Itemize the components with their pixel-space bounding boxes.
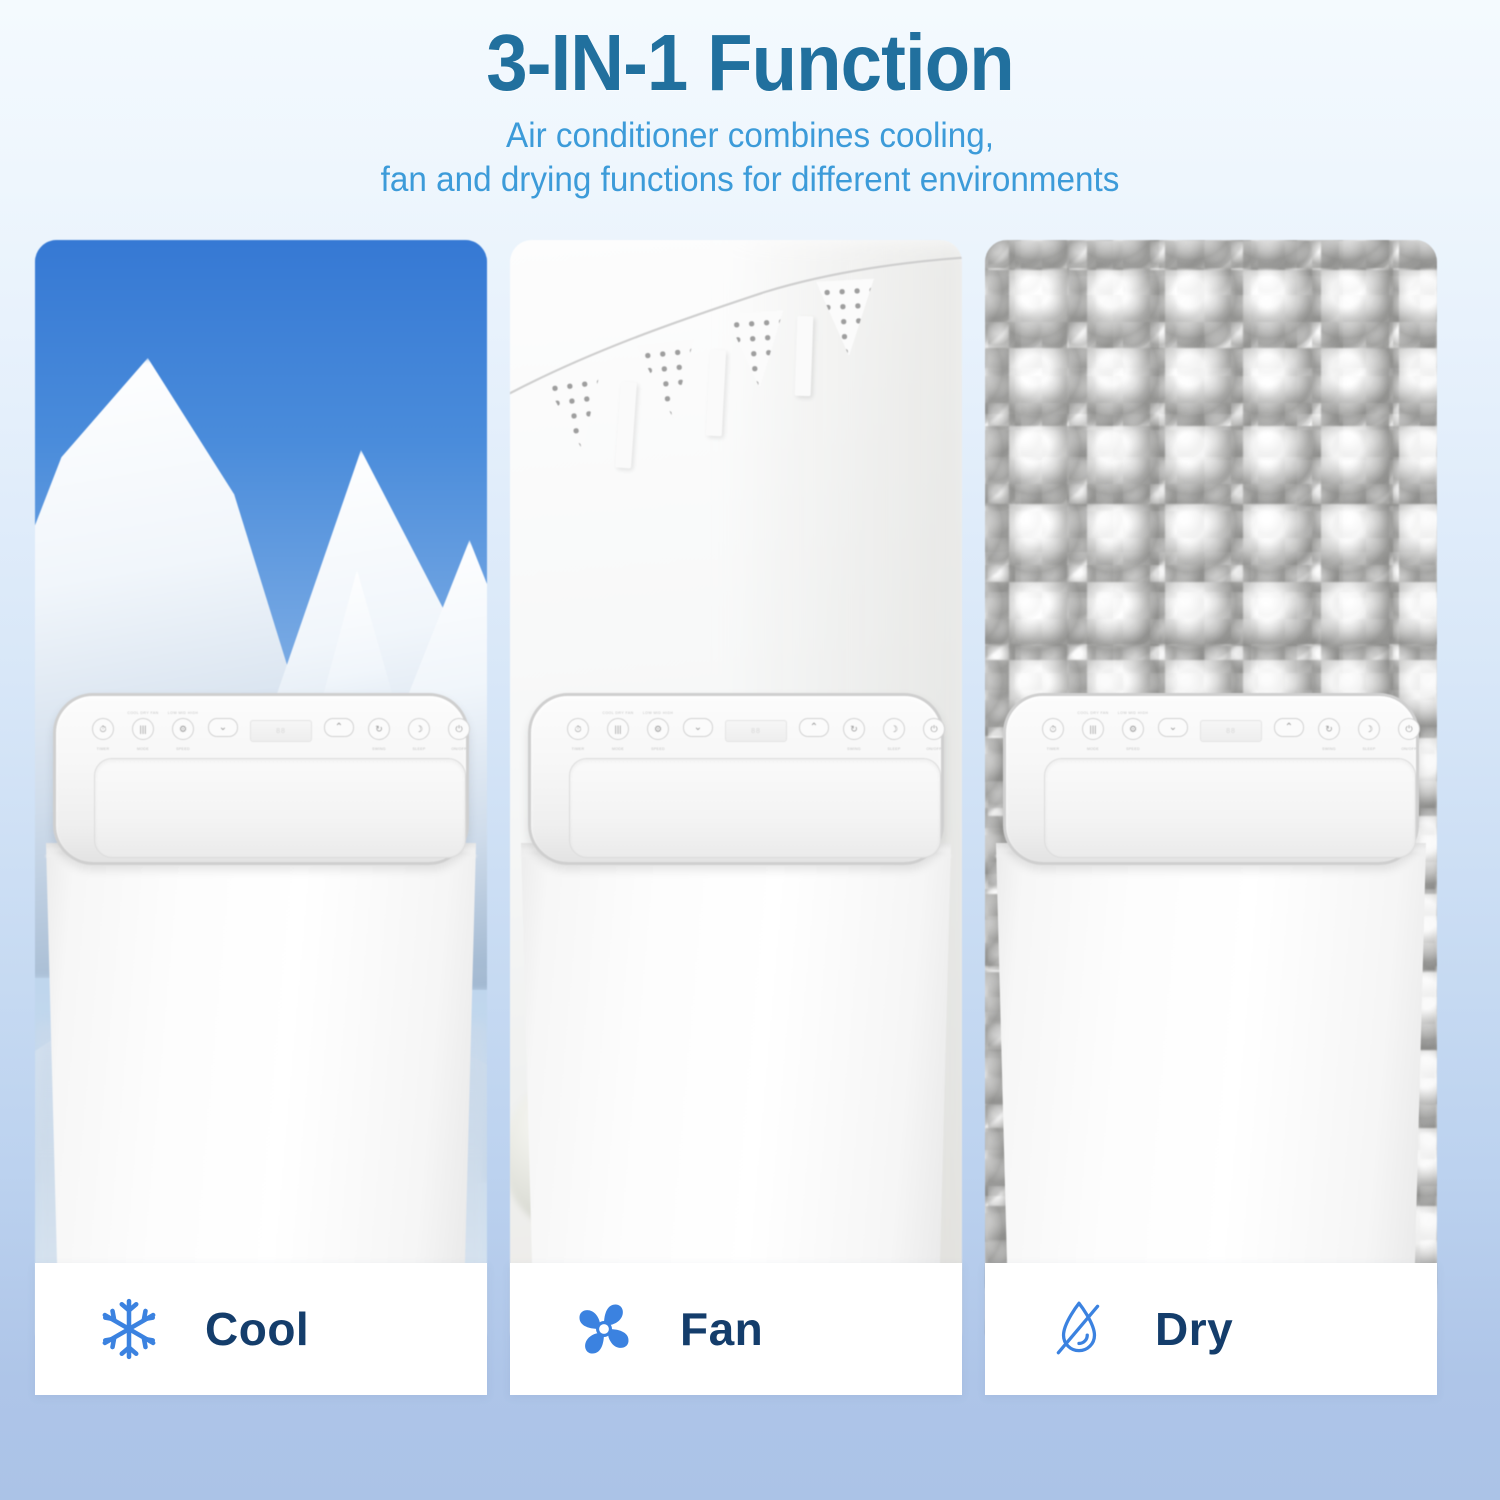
chevron-up-icon: ⌃ bbox=[799, 718, 829, 737]
page-title: 3-IN-1 Function bbox=[53, 22, 1448, 104]
mode-button[interactable]: COOL DRY FAN ||| MODE bbox=[1080, 711, 1106, 751]
bunting-streamer bbox=[795, 316, 814, 397]
bunting-decoration bbox=[510, 254, 962, 474]
ac-louver-panel bbox=[1044, 758, 1416, 858]
speed-button[interactable]: LOW MID HIGH ⚙ SPEED bbox=[1120, 711, 1146, 751]
speed-sub-label: SPEED bbox=[176, 747, 190, 751]
chevron-up-icon: ⌃ bbox=[324, 718, 354, 737]
power-icon: ⏻ bbox=[448, 718, 470, 740]
mode-card-dry: Dry bbox=[985, 1263, 1437, 1395]
control-panel: ⏱ TIMER COOL DRY FAN ||| MODE LOW MID HI… bbox=[1040, 708, 1422, 754]
speed-icon: ⚙ bbox=[172, 718, 194, 740]
timer-icon: ⏱ bbox=[567, 718, 589, 740]
air-conditioner-unit: ⏱ TIMER COOL DRY FAN ||| MODE LOW MID HI… bbox=[987, 693, 1435, 1353]
sleep-sub-label: SLEEP bbox=[1362, 747, 1375, 751]
moon-icon: ☽ bbox=[408, 718, 430, 740]
speed-cap-label: LOW MID HIGH bbox=[1118, 711, 1149, 715]
swing-icon: ↻ bbox=[843, 718, 865, 740]
mode-sub-label: MODE bbox=[612, 747, 624, 751]
power-icon: ⏻ bbox=[1398, 718, 1420, 740]
moon-icon: ☽ bbox=[883, 718, 905, 740]
scene-image-fan: ⏱ TIMER COOL DRY FAN ||| MODE LOW MID HI… bbox=[510, 240, 962, 1353]
feature-panel-fan: ⏱ TIMER COOL DRY FAN ||| MODE LOW MID HI… bbox=[510, 240, 962, 1395]
control-panel: ⏱ TIMER COOL DRY FAN ||| MODE LOW MID HI… bbox=[565, 708, 947, 754]
mode-label-fan: Fan bbox=[680, 1302, 763, 1356]
speed-button[interactable]: LOW MID HIGH ⚙ SPEED bbox=[645, 711, 671, 751]
swing-sub-label: SWING bbox=[372, 747, 386, 751]
feature-panels: ⏱ TIMER COOL DRY FAN ||| MODE LOW MID HI… bbox=[35, 240, 1465, 1395]
fan-blade-icon bbox=[568, 1293, 640, 1365]
ac-louver-panel bbox=[569, 758, 941, 858]
snowflake-icon bbox=[93, 1293, 165, 1365]
mode-label-cool: Cool bbox=[205, 1302, 309, 1356]
mode-card-cool: Cool bbox=[35, 1263, 487, 1395]
no-water-drop-icon bbox=[1043, 1293, 1115, 1365]
timer-button[interactable]: ⏱ TIMER bbox=[90, 711, 116, 751]
power-button[interactable]: ⏻ ON/OFF bbox=[1396, 711, 1422, 751]
mode-button[interactable]: COOL DRY FAN ||| MODE bbox=[605, 711, 631, 751]
temperature-down-button[interactable]: ⌄ bbox=[685, 711, 711, 751]
mode-cap-label: COOL DRY FAN bbox=[1077, 711, 1108, 715]
power-button[interactable]: ⏻ ON/OFF bbox=[921, 711, 947, 751]
scene-image-cool: ⏱ TIMER COOL DRY FAN ||| MODE LOW MID HI… bbox=[35, 240, 487, 1353]
ac-top-cap: ⏱ TIMER COOL DRY FAN ||| MODE LOW MID HI… bbox=[53, 693, 469, 865]
power-button[interactable]: ⏻ ON/OFF bbox=[446, 711, 472, 751]
led-display: 88 bbox=[1200, 720, 1262, 742]
chevron-down-icon: ⌄ bbox=[1158, 718, 1188, 737]
ac-top-cap: ⏱ TIMER COOL DRY FAN ||| MODE LOW MID HI… bbox=[528, 693, 944, 865]
page-subtitle: Air conditioner combines cooling, fan an… bbox=[38, 114, 1463, 202]
temperature-down-button[interactable]: ⌄ bbox=[1160, 711, 1186, 751]
temperature-up-button[interactable]: ⌃ bbox=[326, 711, 352, 751]
sleep-sub-label: SLEEP bbox=[887, 747, 900, 751]
speed-sub-label: SPEED bbox=[1126, 747, 1140, 751]
power-icon: ⏻ bbox=[923, 718, 945, 740]
mode-sub-label: MODE bbox=[137, 747, 149, 751]
mode-sub-label: MODE bbox=[1087, 747, 1099, 751]
sleep-sub-label: SLEEP bbox=[412, 747, 425, 751]
air-conditioner-unit: ⏱ TIMER COOL DRY FAN ||| MODE LOW MID HI… bbox=[37, 693, 485, 1353]
timer-sub-label: TIMER bbox=[572, 747, 585, 751]
header: 3-IN-1 Function Air conditioner combines… bbox=[0, 0, 1500, 202]
timer-sub-label: TIMER bbox=[97, 747, 110, 751]
swing-sub-label: SWING bbox=[1322, 747, 1336, 751]
ac-top-cap: ⏱ TIMER COOL DRY FAN ||| MODE LOW MID HI… bbox=[1003, 693, 1419, 865]
mode-button[interactable]: COOL DRY FAN ||| MODE bbox=[130, 711, 156, 751]
power-sub-label: ON/OFF bbox=[926, 747, 941, 751]
air-conditioner-unit: ⏱ TIMER COOL DRY FAN ||| MODE LOW MID HI… bbox=[512, 693, 960, 1353]
swing-button[interactable]: ↻ SWING bbox=[1316, 711, 1342, 751]
speed-cap-label: LOW MID HIGH bbox=[643, 711, 674, 715]
speed-button[interactable]: LOW MID HIGH ⚙ SPEED bbox=[170, 711, 196, 751]
speed-cap-label: LOW MID HIGH bbox=[168, 711, 199, 715]
mode-cap-label: COOL DRY FAN bbox=[127, 711, 158, 715]
sleep-button[interactable]: ☽ SLEEP bbox=[1356, 711, 1382, 751]
chevron-down-icon: ⌄ bbox=[683, 718, 713, 737]
chevron-down-icon: ⌄ bbox=[208, 718, 238, 737]
mode-card-fan: Fan bbox=[510, 1263, 962, 1395]
timer-button[interactable]: ⏱ TIMER bbox=[565, 711, 591, 751]
subtitle-line-2: fan and drying functions for different e… bbox=[38, 158, 1463, 202]
timer-button[interactable]: ⏱ TIMER bbox=[1040, 711, 1066, 751]
feature-panel-cool: ⏱ TIMER COOL DRY FAN ||| MODE LOW MID HI… bbox=[35, 240, 487, 1395]
scene-image-dry: ⏱ TIMER COOL DRY FAN ||| MODE LOW MID HI… bbox=[985, 240, 1437, 1353]
mode-cap-label: COOL DRY FAN bbox=[602, 711, 633, 715]
feature-panel-dry: ⏱ TIMER COOL DRY FAN ||| MODE LOW MID HI… bbox=[985, 240, 1437, 1395]
swing-icon: ↻ bbox=[368, 718, 390, 740]
mode-icon: ||| bbox=[1082, 718, 1104, 740]
temperature-down-button[interactable]: ⌄ bbox=[210, 711, 236, 751]
temperature-up-button[interactable]: ⌃ bbox=[1276, 711, 1302, 751]
moon-icon: ☽ bbox=[1358, 718, 1380, 740]
ac-louver-panel bbox=[94, 758, 466, 858]
led-display: 88 bbox=[250, 720, 312, 742]
led-display: 88 bbox=[725, 720, 787, 742]
chevron-up-icon: ⌃ bbox=[1274, 718, 1304, 737]
power-sub-label: ON/OFF bbox=[1401, 747, 1416, 751]
swing-sub-label: SWING bbox=[847, 747, 861, 751]
control-panel: ⏱ TIMER COOL DRY FAN ||| MODE LOW MID HI… bbox=[90, 708, 472, 754]
mode-icon: ||| bbox=[607, 718, 629, 740]
sleep-button[interactable]: ☽ SLEEP bbox=[881, 711, 907, 751]
swing-button[interactable]: ↻ SWING bbox=[841, 711, 867, 751]
timer-icon: ⏱ bbox=[1042, 718, 1064, 740]
swing-icon: ↻ bbox=[1318, 718, 1340, 740]
power-sub-label: ON/OFF bbox=[451, 747, 466, 751]
timer-sub-label: TIMER bbox=[1047, 747, 1060, 751]
mode-label-dry: Dry bbox=[1155, 1302, 1233, 1356]
temperature-up-button[interactable]: ⌃ bbox=[801, 711, 827, 751]
timer-icon: ⏱ bbox=[92, 718, 114, 740]
speed-sub-label: SPEED bbox=[651, 747, 665, 751]
subtitle-line-1: Air conditioner combines cooling, bbox=[38, 114, 1463, 158]
sleep-button[interactable]: ☽ SLEEP bbox=[406, 711, 432, 751]
speed-icon: ⚙ bbox=[1122, 718, 1144, 740]
mode-icon: ||| bbox=[132, 718, 154, 740]
swing-button[interactable]: ↻ SWING bbox=[366, 711, 392, 751]
speed-icon: ⚙ bbox=[647, 718, 669, 740]
